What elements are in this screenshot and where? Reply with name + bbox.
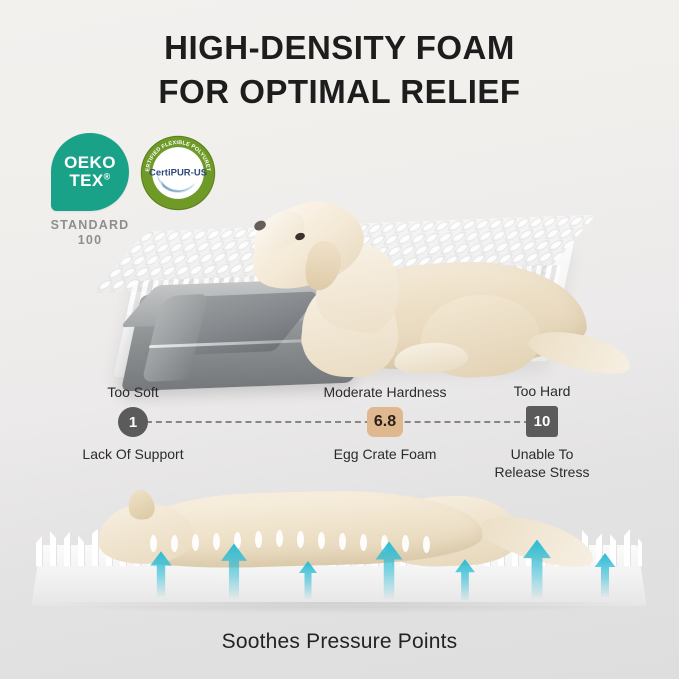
scale-node-moderate-top-label: Moderate Hardness bbox=[324, 384, 447, 400]
scale-node-too-soft: Too Soft 1 Lack Of Support bbox=[118, 407, 148, 437]
scale-node-too-hard-bottom-label: Unable To Release Stress bbox=[495, 445, 590, 481]
scale-node-too-hard: Too Hard 10 Unable To Release Stress bbox=[526, 406, 558, 437]
scale-node-moderate-bottom-label: Egg Crate Foam bbox=[334, 445, 437, 463]
scale-node-too-soft-top-label: Too Soft bbox=[107, 384, 158, 400]
bottom-caption: Soothes Pressure Points bbox=[0, 630, 679, 654]
hardness-scale: Too Soft 1 Lack Of Support Moderate Hard… bbox=[0, 380, 679, 472]
pressure-arrow bbox=[372, 540, 406, 600]
scale-node-moderate: Moderate Hardness 6.8 Egg Crate Foam bbox=[367, 407, 403, 437]
pressure-point-illustration bbox=[0, 478, 679, 628]
pressure-arrow bbox=[218, 542, 250, 600]
pressure-arrow bbox=[296, 560, 320, 600]
scale-node-too-hard-bottom-line-1: Unable To bbox=[511, 446, 574, 462]
scale-marker-value: 6.8 bbox=[367, 407, 403, 437]
scale-node-too-hard-top-label: Too Hard bbox=[514, 383, 571, 399]
headline-line-1: HIGH-DENSITY FOAM bbox=[0, 26, 679, 70]
scale-marker-10: 10 bbox=[526, 406, 558, 437]
pressure-arrow bbox=[520, 538, 554, 600]
pressure-arrow bbox=[148, 550, 174, 598]
pressure-relief-arrows bbox=[0, 478, 679, 628]
pressure-arrow bbox=[452, 558, 478, 602]
scale-marker-1: 1 bbox=[118, 407, 148, 437]
scale-node-too-soft-bottom-label: Lack Of Support bbox=[82, 445, 183, 463]
hero-product-image bbox=[0, 95, 679, 380]
pressure-arrow bbox=[592, 552, 618, 598]
scale-connector-line bbox=[136, 421, 540, 423]
